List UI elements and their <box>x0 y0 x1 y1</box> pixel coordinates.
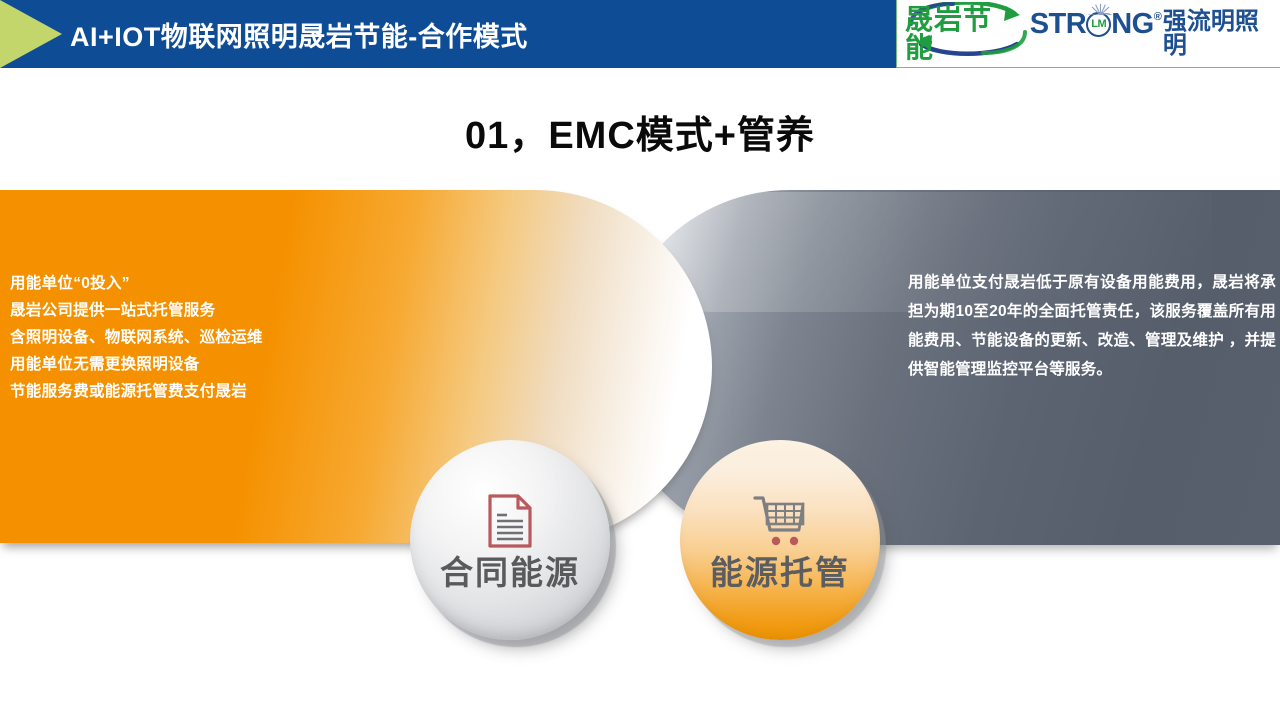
logo-lm-text: LM <box>1091 19 1106 30</box>
page-title: 01，EMC模式+管养 <box>0 104 1280 159</box>
badge-label: 合同能源 <box>440 556 580 589</box>
header-title: AI+IOT物联网照明晟岩节能-合作模式 <box>70 0 528 68</box>
badge-label: 能源托管 <box>710 556 850 589</box>
left-panel-line: 晟岩公司提供一站式托管服务 <box>10 297 340 324</box>
right-panel-text: 用能单位支付晟岩低于原有设备用能费用，晟岩将承担为期10至20年的全面托管责任，… <box>908 268 1276 384</box>
page-header: AI+IOT物联网照明晟岩节能-合作模式 晟岩节能 STR <box>0 0 1280 68</box>
badge-energy-hosting[interactable]: 能源托管 <box>680 440 880 640</box>
logo-brand-cn: 晟岩节能 <box>905 6 1020 62</box>
logo-brand-sub-cn: 强流明照明 <box>1163 10 1280 58</box>
shopping-cart-icon <box>753 492 807 550</box>
left-panel-line: 含照明设备、物联网系统、巡检运维 <box>10 324 340 351</box>
logo-strong-left: STR <box>1030 10 1087 39</box>
left-panel-line: 用能单位无需更换照明设备 <box>10 351 340 378</box>
company-logo: 晟岩节能 STR <box>896 0 1280 68</box>
logo-strong-lockup: STR LM <box>1030 10 1280 58</box>
badge-contract-energy[interactable]: 合同能源 <box>410 440 610 640</box>
fan-icon <box>1088 1 1113 15</box>
logo-strong-word: STR LM <box>1030 10 1154 39</box>
logo-lm-circle-icon: LM <box>1086 12 1111 37</box>
left-panel-line: 节能服务费或能源托管费支付晟岩 <box>10 378 340 405</box>
left-panel-line: 用能单位“0投入” <box>10 270 340 297</box>
document-icon <box>487 492 533 550</box>
left-panel-text: 用能单位“0投入” 晟岩公司提供一站式托管服务 含照明设备、物联网系统、巡检运维… <box>10 270 340 405</box>
logo-strong-right: NG <box>1111 10 1154 39</box>
registered-mark-icon: ® <box>1154 12 1162 23</box>
content-stage: 用能单位“0投入” 晟岩公司提供一站式托管服务 含照明设备、物联网系统、巡检运维… <box>0 190 1280 550</box>
